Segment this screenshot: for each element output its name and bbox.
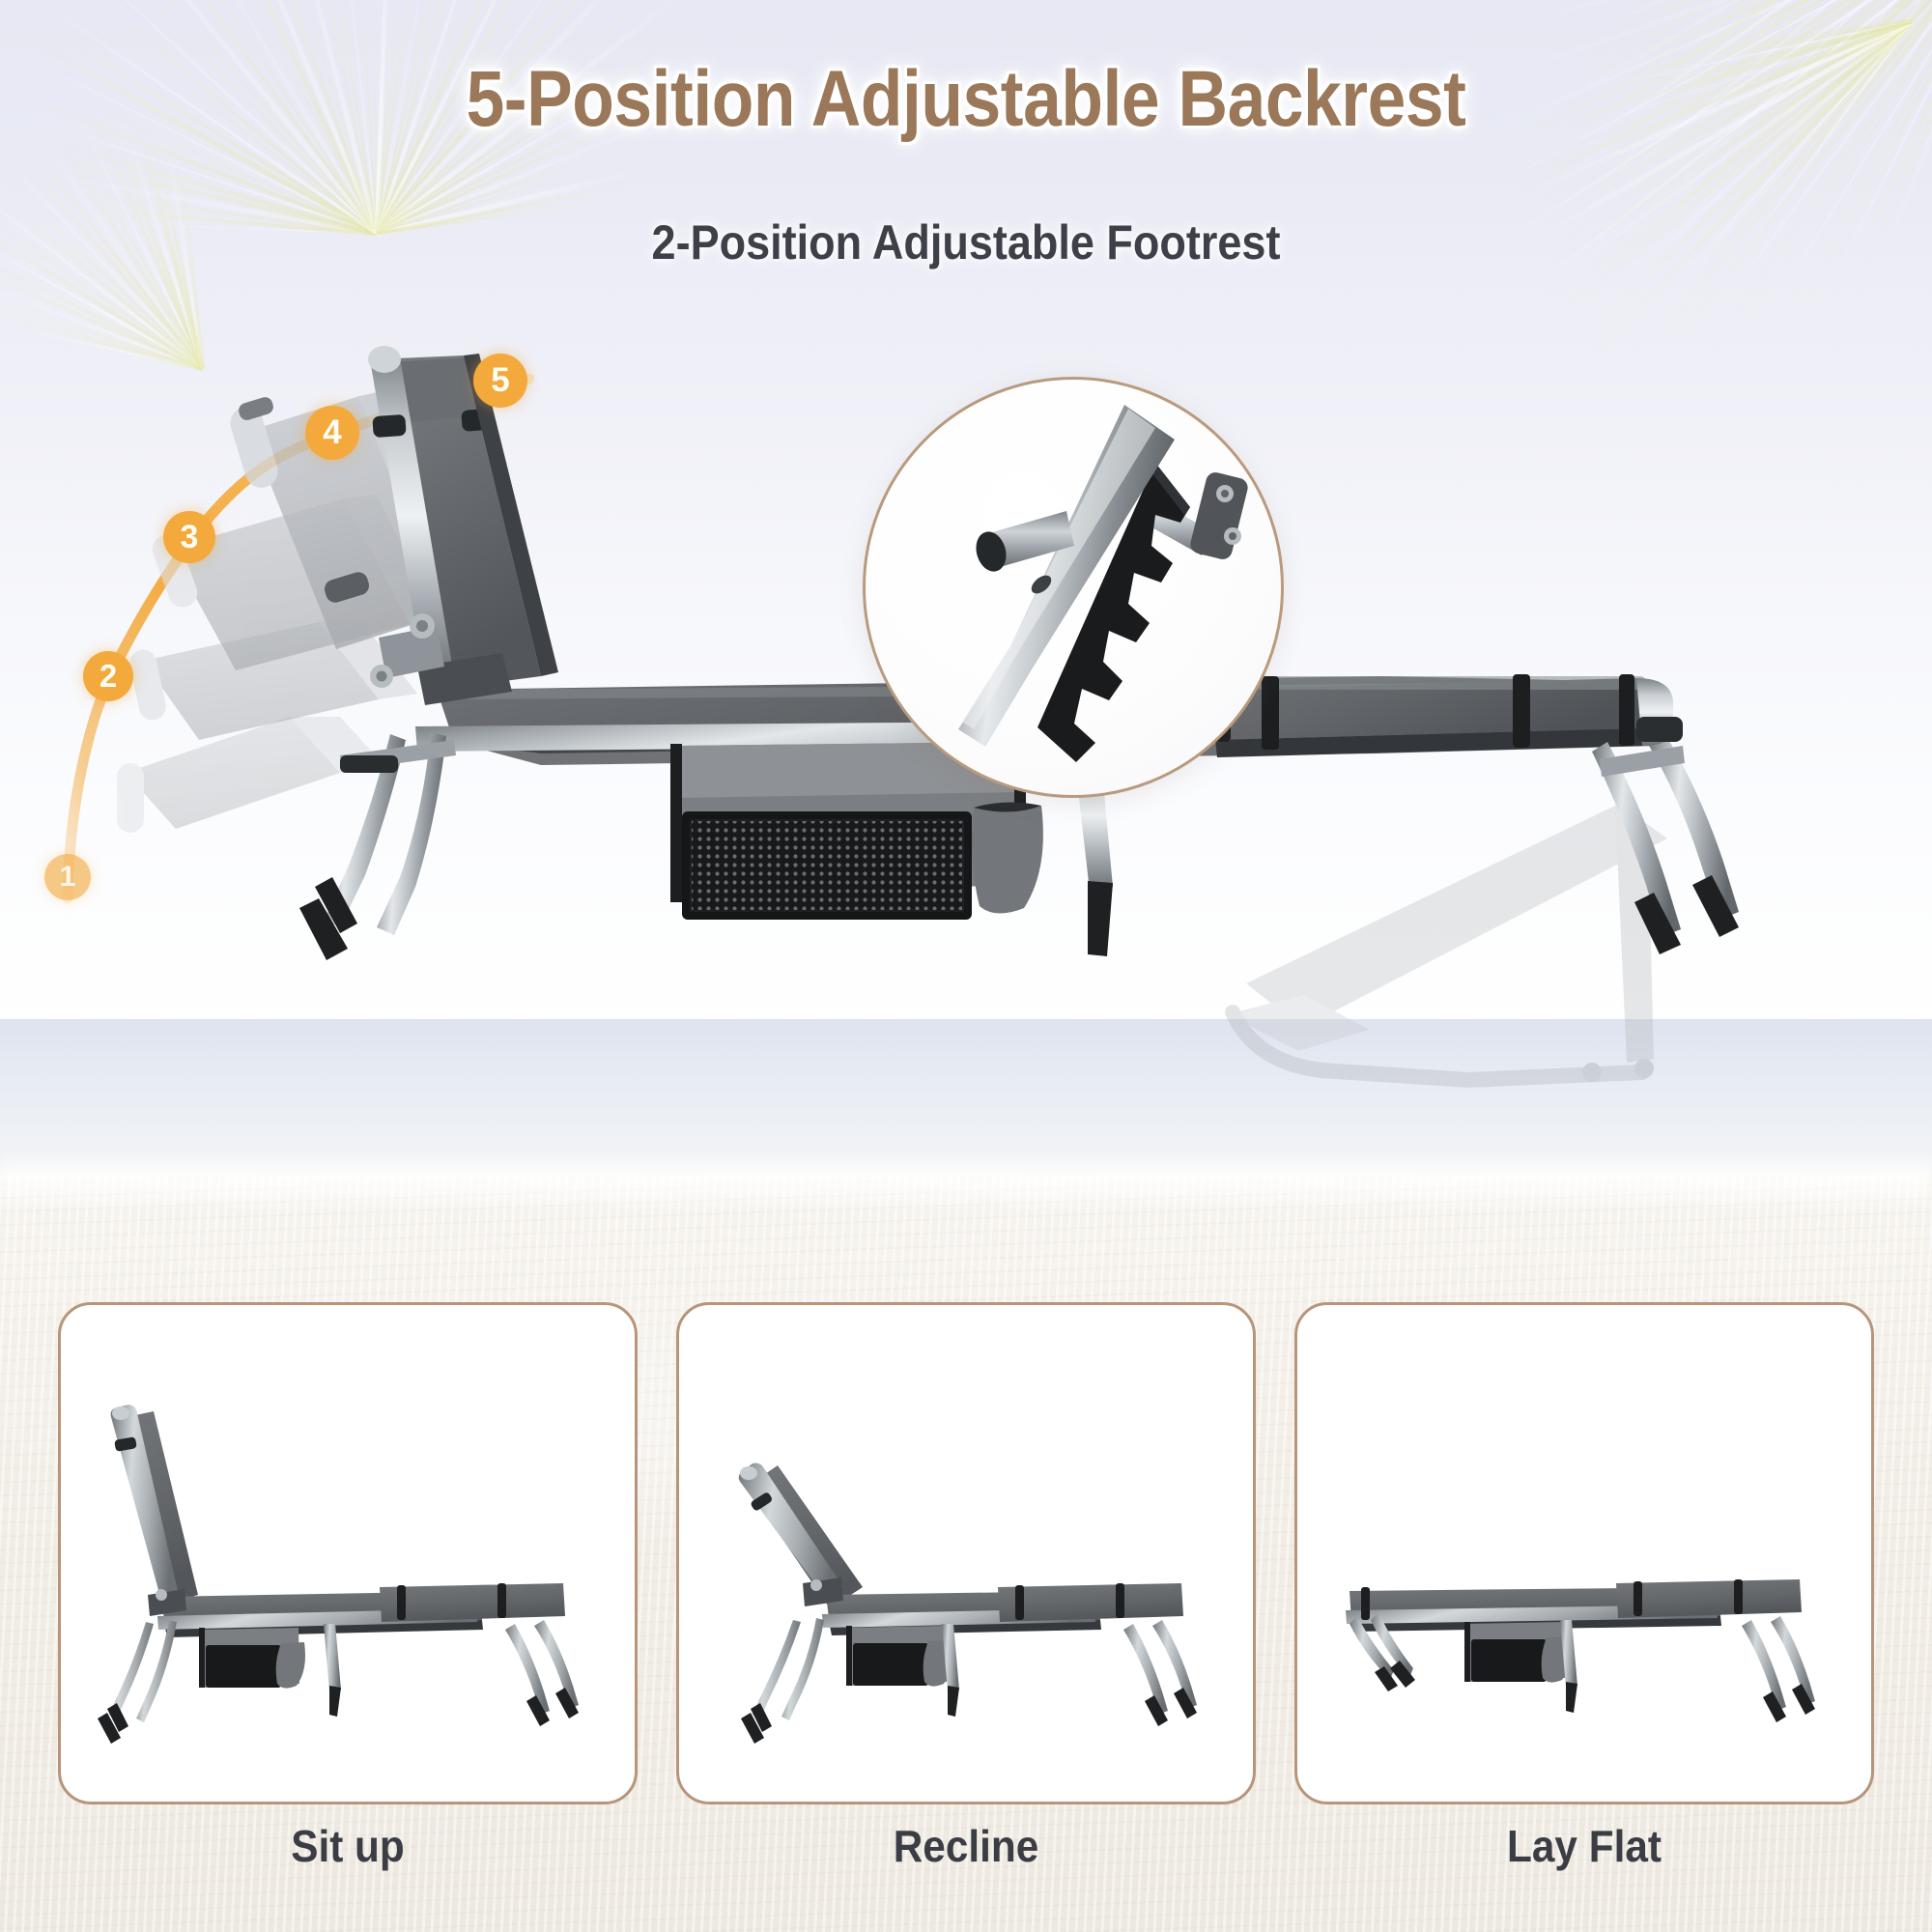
card-lay-flat[interactable]	[1294, 1302, 1874, 1804]
position-cards: Sit up Recline Lay Flat	[0, 1302, 1932, 1920]
ratchet-notch-illustration	[866, 380, 1281, 795]
position-badge-5[interactable]: 5	[473, 354, 527, 408]
position-badge-1[interactable]: 1	[44, 854, 91, 900]
card-label-lay-flat: Lay Flat	[1318, 1820, 1851, 1872]
card-label-sit-up: Sit up	[81, 1820, 614, 1872]
card-label-recline: Recline	[699, 1820, 1233, 1872]
position-badge-label: 4	[323, 413, 341, 452]
position-badge-label: 5	[491, 361, 509, 400]
position-badge-4[interactable]: 4	[305, 406, 359, 460]
mini-chair-recline	[679, 1305, 1256, 1804]
ratchet-detail-inset	[863, 377, 1284, 798]
position-badge-label: 2	[99, 658, 117, 695]
infographic-canvas: 5-Position Adjustable Backrest 2-Positio…	[0, 0, 1932, 1932]
shoreline-foam	[0, 1150, 1932, 1207]
position-badge-label: 1	[60, 861, 76, 894]
position-badge-3[interactable]: 3	[163, 511, 215, 563]
position-badge-label: 3	[181, 519, 199, 556]
mini-chair-sit-up	[61, 1305, 638, 1804]
mini-chair-lay-flat	[1297, 1305, 1874, 1804]
card-recline[interactable]	[676, 1302, 1256, 1804]
card-sit-up[interactable]	[58, 1302, 638, 1804]
page-title: 5-Position Adjustable Backrest	[126, 54, 1806, 145]
position-badge-2[interactable]: 2	[83, 651, 133, 701]
page-subtitle: 2-Position Adjustable Footrest	[97, 214, 1835, 270]
